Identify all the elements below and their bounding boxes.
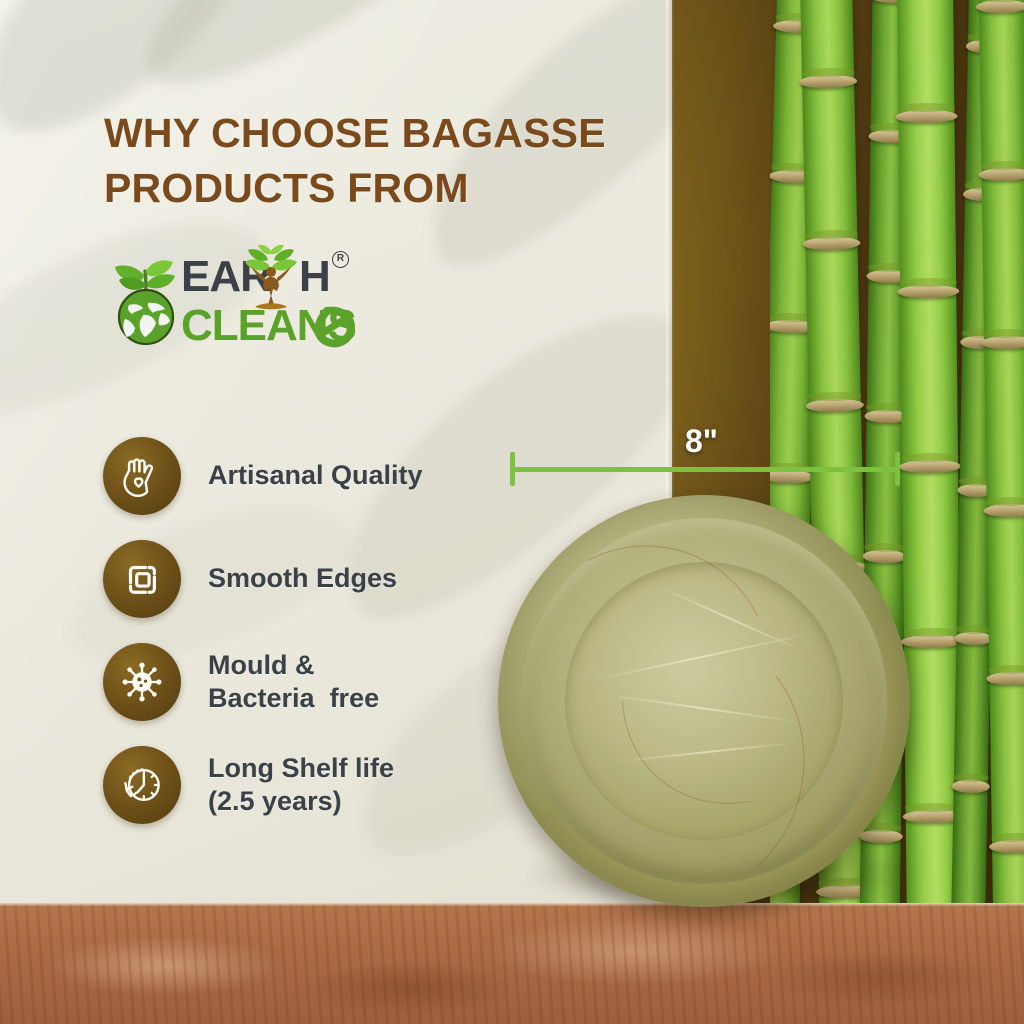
- poster-canvas: WHY CHOOSE BAGASSE PRODUCTS FROM: [0, 0, 1024, 1024]
- feature-item-smooth-edges: Smooth Edges: [103, 527, 563, 630]
- feature-item-long-shelf-life: Long Shelf life(2.5 years): [103, 733, 563, 836]
- bamboo-node: [802, 236, 860, 250]
- bamboo-node: [984, 504, 1024, 518]
- feature-label: Mould &Bacteria free: [208, 649, 379, 715]
- rounded-corners-icon: [103, 540, 181, 618]
- plate-well: [565, 562, 844, 841]
- registered-trademark-icon: R: [332, 251, 349, 268]
- bamboo-node: [895, 110, 958, 124]
- feature-label: Smooth Edges: [208, 562, 397, 595]
- bamboo-node: [862, 550, 907, 564]
- bamboo-node: [981, 336, 1024, 350]
- dimension-line: [510, 460, 900, 478]
- globe-sprout-icon: [103, 253, 189, 345]
- feature-label: Long Shelf life(2.5 years): [208, 752, 394, 818]
- bamboo-node: [987, 672, 1024, 686]
- wood-surface: [0, 903, 1024, 1024]
- feature-item-mould-bacteria-free: Mould &Bacteria free: [103, 630, 563, 733]
- feature-list: Artisanal Quality Smooth Edges: [103, 424, 563, 836]
- headline-line-2: PRODUCTS FROM: [104, 161, 624, 216]
- plate-rim: [521, 518, 888, 885]
- bamboo-node: [897, 285, 960, 299]
- bamboo-node: [799, 74, 857, 88]
- bamboo-node: [954, 632, 992, 646]
- hand-heart-icon: [103, 437, 181, 515]
- dimension-cap-left: [510, 452, 515, 486]
- page-title: WHY CHOOSE BAGASSE PRODUCTS FROM: [104, 106, 624, 215]
- clock-arrow-icon: [103, 746, 181, 824]
- germ-icon: [103, 643, 181, 721]
- brand-logo: EAR H CLEANS: [103, 245, 353, 350]
- headline-line-1: WHY CHOOSE BAGASSE: [104, 106, 624, 161]
- dimension-label: 8": [685, 423, 718, 460]
- feature-label: Artisanal Quality: [208, 459, 423, 492]
- dimension-bar: [510, 467, 900, 472]
- dimension-cap-right: [895, 452, 900, 486]
- bamboo-node: [806, 398, 864, 412]
- bamboo-node: [989, 840, 1024, 854]
- bamboo-node: [976, 0, 1024, 13]
- bamboo-node: [952, 780, 990, 794]
- feature-item-artisanal-quality: Artisanal Quality: [103, 424, 563, 527]
- bamboo-node: [899, 460, 962, 474]
- bamboo-node: [979, 168, 1024, 182]
- logo-text-earth-tail: H: [299, 252, 330, 301]
